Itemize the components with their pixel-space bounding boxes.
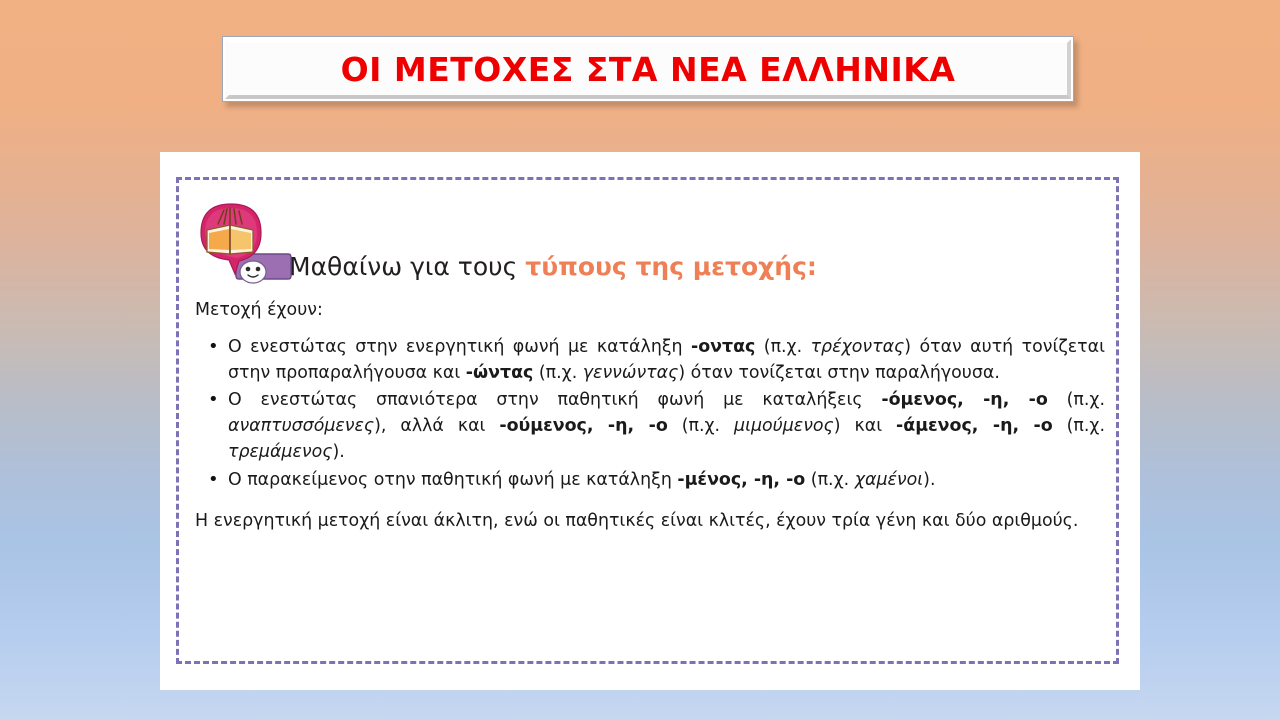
lead-text: Μετοχή έχουν: [195, 298, 1105, 324]
section-heading: Μαθαίνω για τους τύπους της μετοχής: [193, 200, 817, 286]
closing-text: Η ενεργητική μετοχή είναι άκλιτη, ενώ οι… [195, 509, 1105, 535]
content-card: Μαθαίνω για τους τύπους της μετοχής: Μετ… [160, 152, 1140, 690]
open-book-speech-bubble-icon [193, 202, 297, 286]
list-item: Ο ενεστώτας στην ενεργητική φωνή με κατά… [228, 335, 1105, 387]
dashed-content-frame: Μαθαίνω για τους τύπους της μετοχής: Μετ… [176, 177, 1119, 664]
heading-accent-text: τύπους της μετοχής: [525, 252, 817, 281]
page-title: ΟΙ ΜΕΤΟΧΕΣ ΣΤΑ ΝΕΑ ΕΛΛΗΝΙΚΑ [341, 53, 956, 86]
list-item: Ο παρακείμενος οτην παθητική φωνή με κατ… [228, 468, 1105, 494]
heading-plain-text: Μαθαίνω για τους [289, 252, 525, 281]
rules-list: Ο ενεστώτας στην ενεργητική φωνή με κατά… [195, 335, 1105, 494]
section-heading-text: Μαθαίνω για τους τύπους της μετοχής: [289, 253, 817, 287]
lesson-body: Μετοχή έχουν: Ο ενεστώτας στην ενεργητικ… [195, 298, 1105, 535]
list-item: Ο ενεστώτας σπανιότερα στην παθητική φων… [228, 388, 1105, 465]
slide-title-banner: ΟΙ ΜΕΤΟΧΕΣ ΣΤΑ ΝΕΑ ΕΛΛΗΝΙΚΑ [222, 36, 1074, 102]
title-banner-bevel: ΟΙ ΜΕΤΟΧΕΣ ΣΤΑ ΝΕΑ ΕΛΛΗΝΙΚΑ [225, 39, 1071, 99]
